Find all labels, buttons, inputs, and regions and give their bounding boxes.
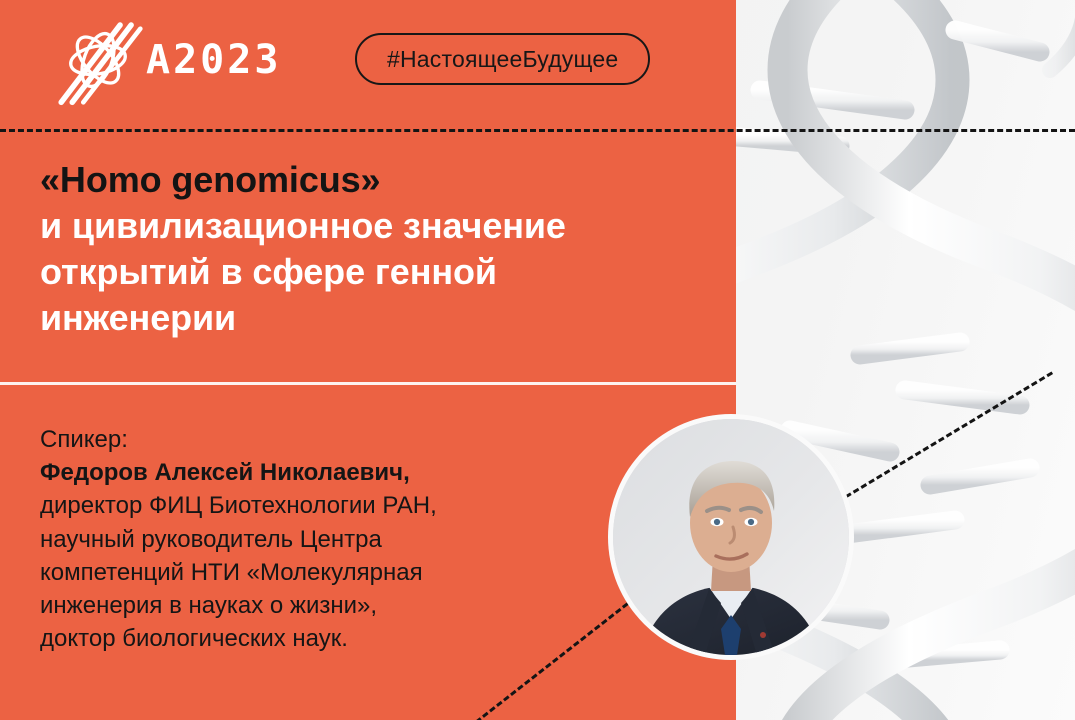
page-title: «Homo genomicus» и цивилизационное значе… (40, 157, 720, 341)
brand-logo[interactable]: A2023 (52, 14, 281, 106)
section-divider (0, 382, 736, 385)
speaker-credential-5: доктор биологических наук. (40, 622, 640, 655)
speaker-name: Федоров Алексей Николаевич, (40, 456, 640, 489)
title-line-1: «Homo genomicus» (40, 157, 720, 203)
speaker-credential-2: научный руководитель Центра (40, 523, 640, 556)
poster-canvas: A2023 #НастоящееБудущее «Homo genomicus»… (0, 0, 1075, 720)
title-line-2: и цивилизационное значение (40, 203, 720, 249)
speaker-label: Спикер: (40, 423, 640, 456)
speaker-credential-4: инженерия в науках о жизни», (40, 589, 640, 622)
title-line-4: инженерии (40, 295, 720, 341)
portrait-photo (613, 419, 849, 655)
speaker-info: Спикер: Федоров Алексей Николаевич, дире… (40, 423, 640, 656)
speaker-credential-3: компетенций НТИ «Молекулярная (40, 556, 640, 589)
brand-wordmark: A2023 (146, 40, 281, 80)
speaker-credential-1: директор ФИЦ Биотехнологии РАН, (40, 489, 640, 522)
avatar (613, 419, 849, 655)
title-line-3: открытий в сфере генной (40, 249, 720, 295)
hashtag-pill[interactable]: #НастоящееБудущее (355, 33, 650, 85)
dashed-divider-icon (0, 129, 1075, 132)
atom-streak-logo-icon (52, 14, 144, 106)
